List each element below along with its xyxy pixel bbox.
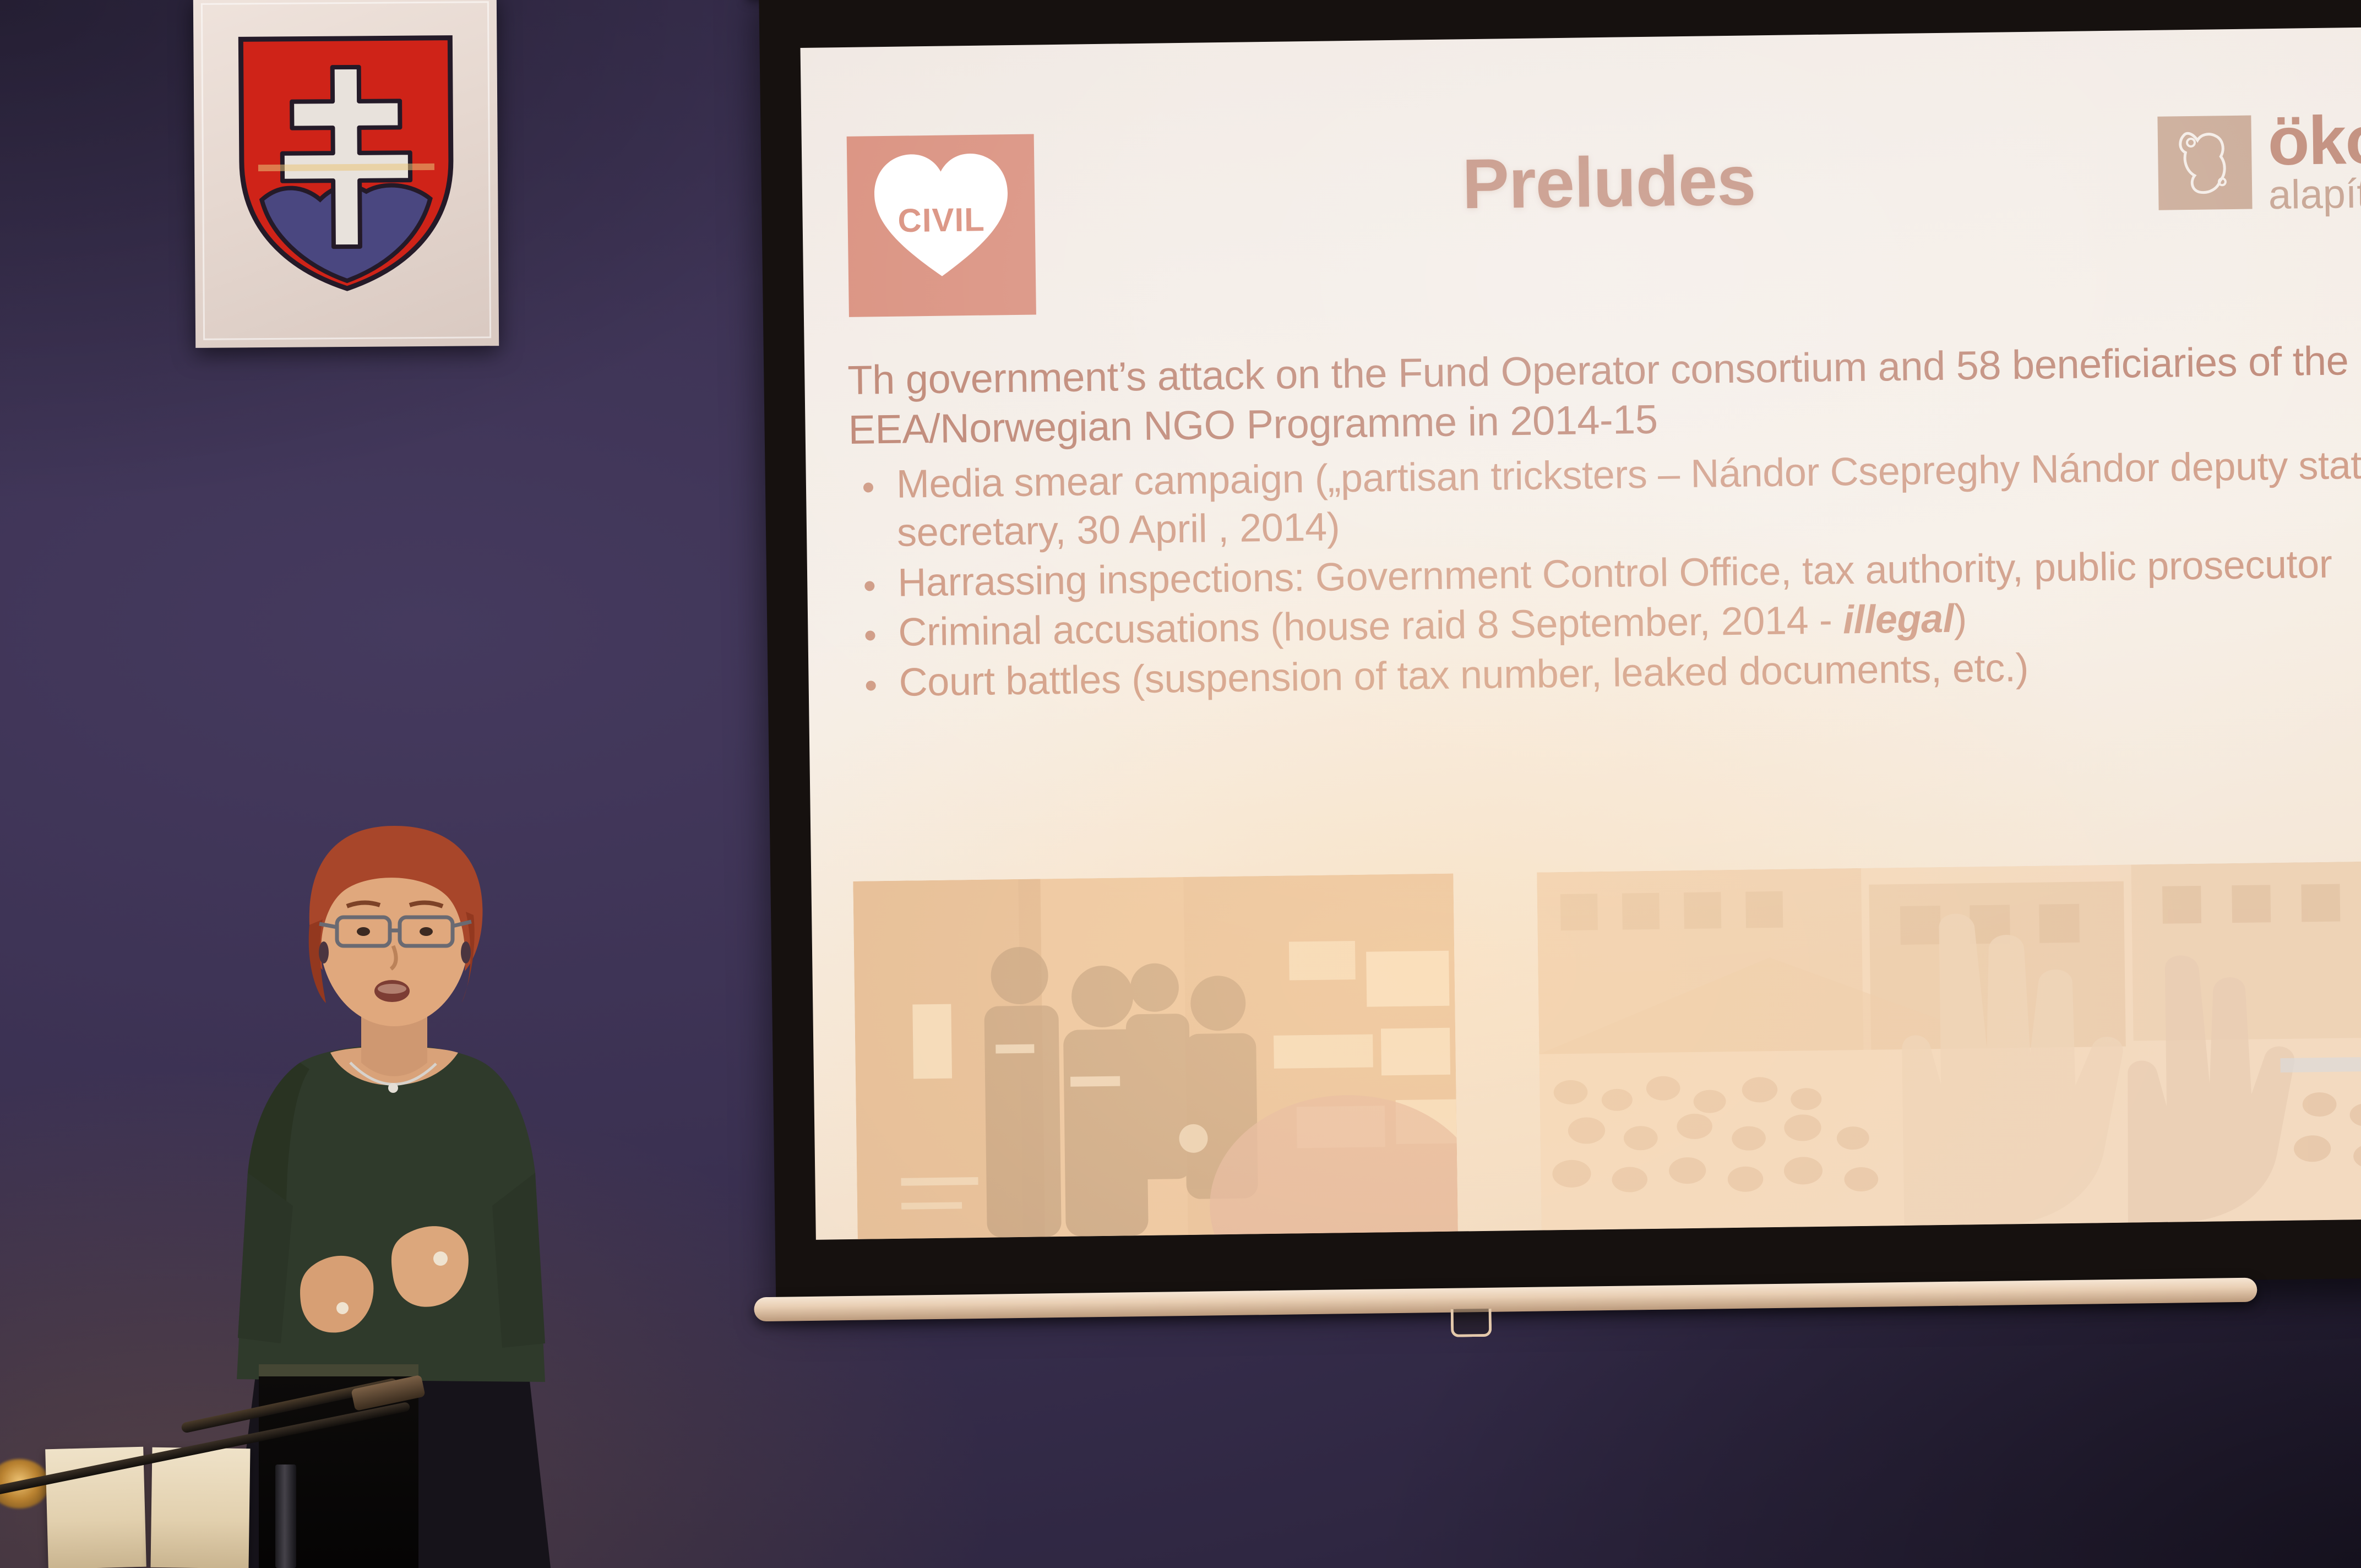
okotars-subtitle: alapítvány xyxy=(2268,174,2361,214)
photo-police-raid xyxy=(853,874,1457,1239)
bullet-3-before: Criminal accusations (house raid 8 Septe… xyxy=(898,598,1843,655)
bullet-3-after: ) xyxy=(1954,597,1967,641)
slide-content: CIVIL Preludes ökotá alapí xyxy=(801,27,2361,1240)
paper-sheet-right xyxy=(150,1447,250,1568)
okotars-mark-icon xyxy=(2157,116,2252,210)
projected-slide: CIVIL Preludes ökotá alapí xyxy=(801,27,2361,1240)
okotars-wordmark: ökotá alapítvány xyxy=(2267,108,2361,214)
slide-title: Preludes xyxy=(802,132,2361,233)
paper-sheets xyxy=(47,1448,262,1568)
photo-protest-crowd xyxy=(1537,861,2361,1231)
microphone-stand xyxy=(275,1464,296,1568)
bullet-item-1: Media smear campaign („partisan trickste… xyxy=(848,440,2361,558)
slide-body: Th government’s attack on the Fund Opera… xyxy=(847,335,2361,709)
slovak-coat-of-arms-plaque xyxy=(193,0,499,348)
slide-lead-paragraph: Th government’s attack on the Fund Opera… xyxy=(847,335,2361,455)
okotars-logo: ökotá alapítvány xyxy=(2157,108,2361,215)
bullet-3-emphasis: illegal xyxy=(1842,597,1954,643)
coat-of-arms-icon xyxy=(235,34,457,294)
slide-photo-row xyxy=(853,861,2361,1239)
slide-bullet-list: Media smear campaign („partisan trickste… xyxy=(848,440,2361,708)
okotars-name: ökotá xyxy=(2267,108,2361,173)
projection-screen: CIVIL Preludes ökotá alapí xyxy=(759,0,2361,1316)
screen-pull-hook xyxy=(1451,1309,1492,1337)
presentation-room-photo: CIVIL Preludes ökotá alapí xyxy=(0,0,2361,1568)
